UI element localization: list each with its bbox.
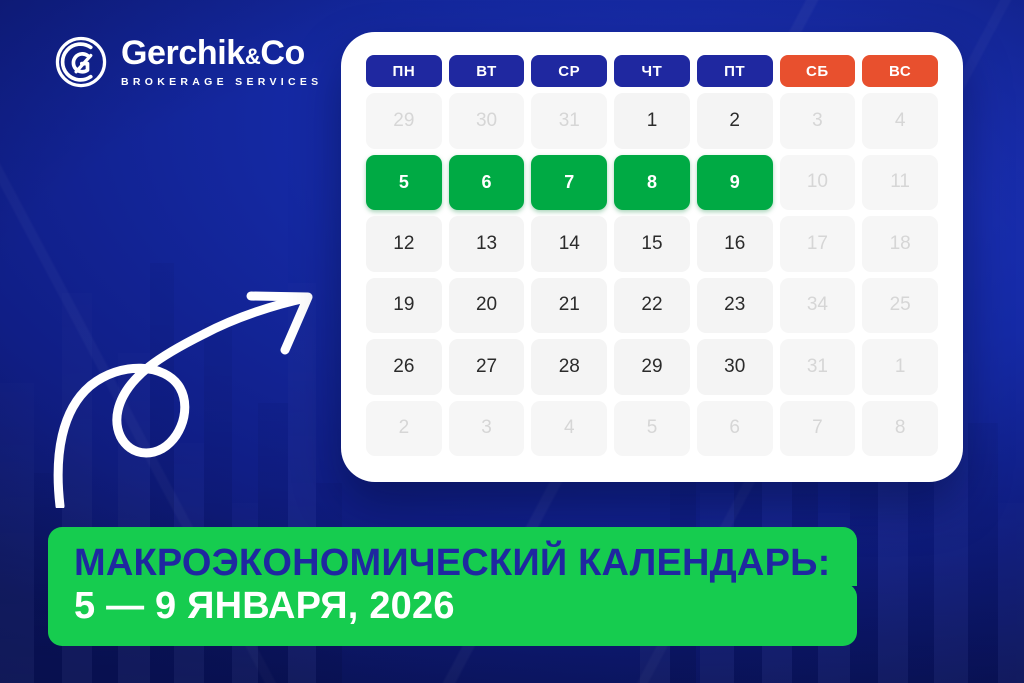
day-cell[interactable]: 23 <box>697 278 773 334</box>
headline-banner: МАКРОЭКОНОМИЧЕСКИЙ КАЛЕНДАРЬ: 5 — 9 ЯНВА… <box>48 527 857 646</box>
brand-ampersand: & <box>245 44 261 69</box>
day-cell[interactable]: 4 <box>531 401 607 457</box>
day-cell[interactable]: 21 <box>531 278 607 334</box>
day-cell[interactable]: 31 <box>780 339 856 395</box>
weekday-header-0: ПН <box>366 55 442 87</box>
day-cell[interactable]: 19 <box>366 278 442 334</box>
day-cell[interactable]: 1 <box>862 339 938 395</box>
day-cell[interactable]: 17 <box>780 216 856 272</box>
brand-logo: Gerchik&Co BROKERAGE SERVICES <box>55 36 322 88</box>
day-cell[interactable]: 27 <box>449 339 525 395</box>
calendar-card: ПНВТСРЧТПТСБВС29303112345678910111213141… <box>341 32 963 482</box>
headline-dates-row: 5 — 9 ЯНВАРЯ, 2026 <box>48 583 857 646</box>
brand-tagline: BROKERAGE SERVICES <box>121 76 322 88</box>
weekday-header-6: ВС <box>862 55 938 87</box>
day-cell[interactable]: 10 <box>780 155 856 211</box>
day-cell[interactable]: 7 <box>531 155 607 211</box>
brand-name-suffix: Co <box>260 34 305 72</box>
day-cell[interactable]: 15 <box>614 216 690 272</box>
headline-title: МАКРОЭКОНОМИЧЕСКИЙ КАЛЕНДАРЬ: <box>74 543 831 583</box>
weekday-header-4: ПТ <box>697 55 773 87</box>
day-cell[interactable]: 29 <box>366 93 442 149</box>
brand-name: Gerchik&Co <box>121 36 322 70</box>
day-cell[interactable]: 22 <box>614 278 690 334</box>
day-cell[interactable]: 12 <box>366 216 442 272</box>
day-cell[interactable]: 13 <box>449 216 525 272</box>
day-cell[interactable]: 8 <box>862 401 938 457</box>
promo-banner-canvas: Gerchik&Co BROKERAGE SERVICES ПНВТСРЧТПТ… <box>0 0 1024 683</box>
day-cell[interactable]: 14 <box>531 216 607 272</box>
day-cell[interactable]: 2 <box>697 93 773 149</box>
day-cell[interactable]: 5 <box>614 401 690 457</box>
day-cell[interactable]: 6 <box>697 401 773 457</box>
day-cell[interactable]: 1 <box>614 93 690 149</box>
day-cell[interactable]: 6 <box>449 155 525 211</box>
day-cell[interactable]: 20 <box>449 278 525 334</box>
day-cell[interactable]: 2 <box>366 401 442 457</box>
day-cell[interactable]: 30 <box>449 93 525 149</box>
day-cell[interactable]: 11 <box>862 155 938 211</box>
weekday-header-1: ВТ <box>449 55 525 87</box>
day-cell[interactable]: 26 <box>366 339 442 395</box>
day-cell[interactable]: 28 <box>531 339 607 395</box>
headline-dates: 5 — 9 ЯНВАРЯ, 2026 <box>74 585 831 628</box>
day-cell[interactable]: 5 <box>366 155 442 211</box>
brand-name-main: Gerchik <box>121 34 245 72</box>
day-cell[interactable]: 9 <box>697 155 773 211</box>
day-cell[interactable]: 8 <box>614 155 690 211</box>
day-cell[interactable]: 29 <box>614 339 690 395</box>
gerchik-circle-monogram-icon <box>55 36 107 88</box>
weekday-header-3: ЧТ <box>614 55 690 87</box>
weekday-header-2: СР <box>531 55 607 87</box>
day-cell[interactable]: 18 <box>862 216 938 272</box>
headline-title-row: МАКРОЭКОНОМИЧЕСКИЙ КАЛЕНДАРЬ: <box>48 527 857 585</box>
day-cell[interactable]: 4 <box>862 93 938 149</box>
calendar-grid: ПНВТСРЧТПТСБВС29303112345678910111213141… <box>366 55 938 456</box>
weekday-header-5: СБ <box>780 55 856 87</box>
day-cell[interactable]: 30 <box>697 339 773 395</box>
day-cell[interactable]: 7 <box>780 401 856 457</box>
day-cell[interactable]: 3 <box>780 93 856 149</box>
day-cell[interactable]: 31 <box>531 93 607 149</box>
day-cell[interactable]: 34 <box>780 278 856 334</box>
day-cell[interactable]: 16 <box>697 216 773 272</box>
day-cell[interactable]: 3 <box>449 401 525 457</box>
day-cell[interactable]: 25 <box>862 278 938 334</box>
